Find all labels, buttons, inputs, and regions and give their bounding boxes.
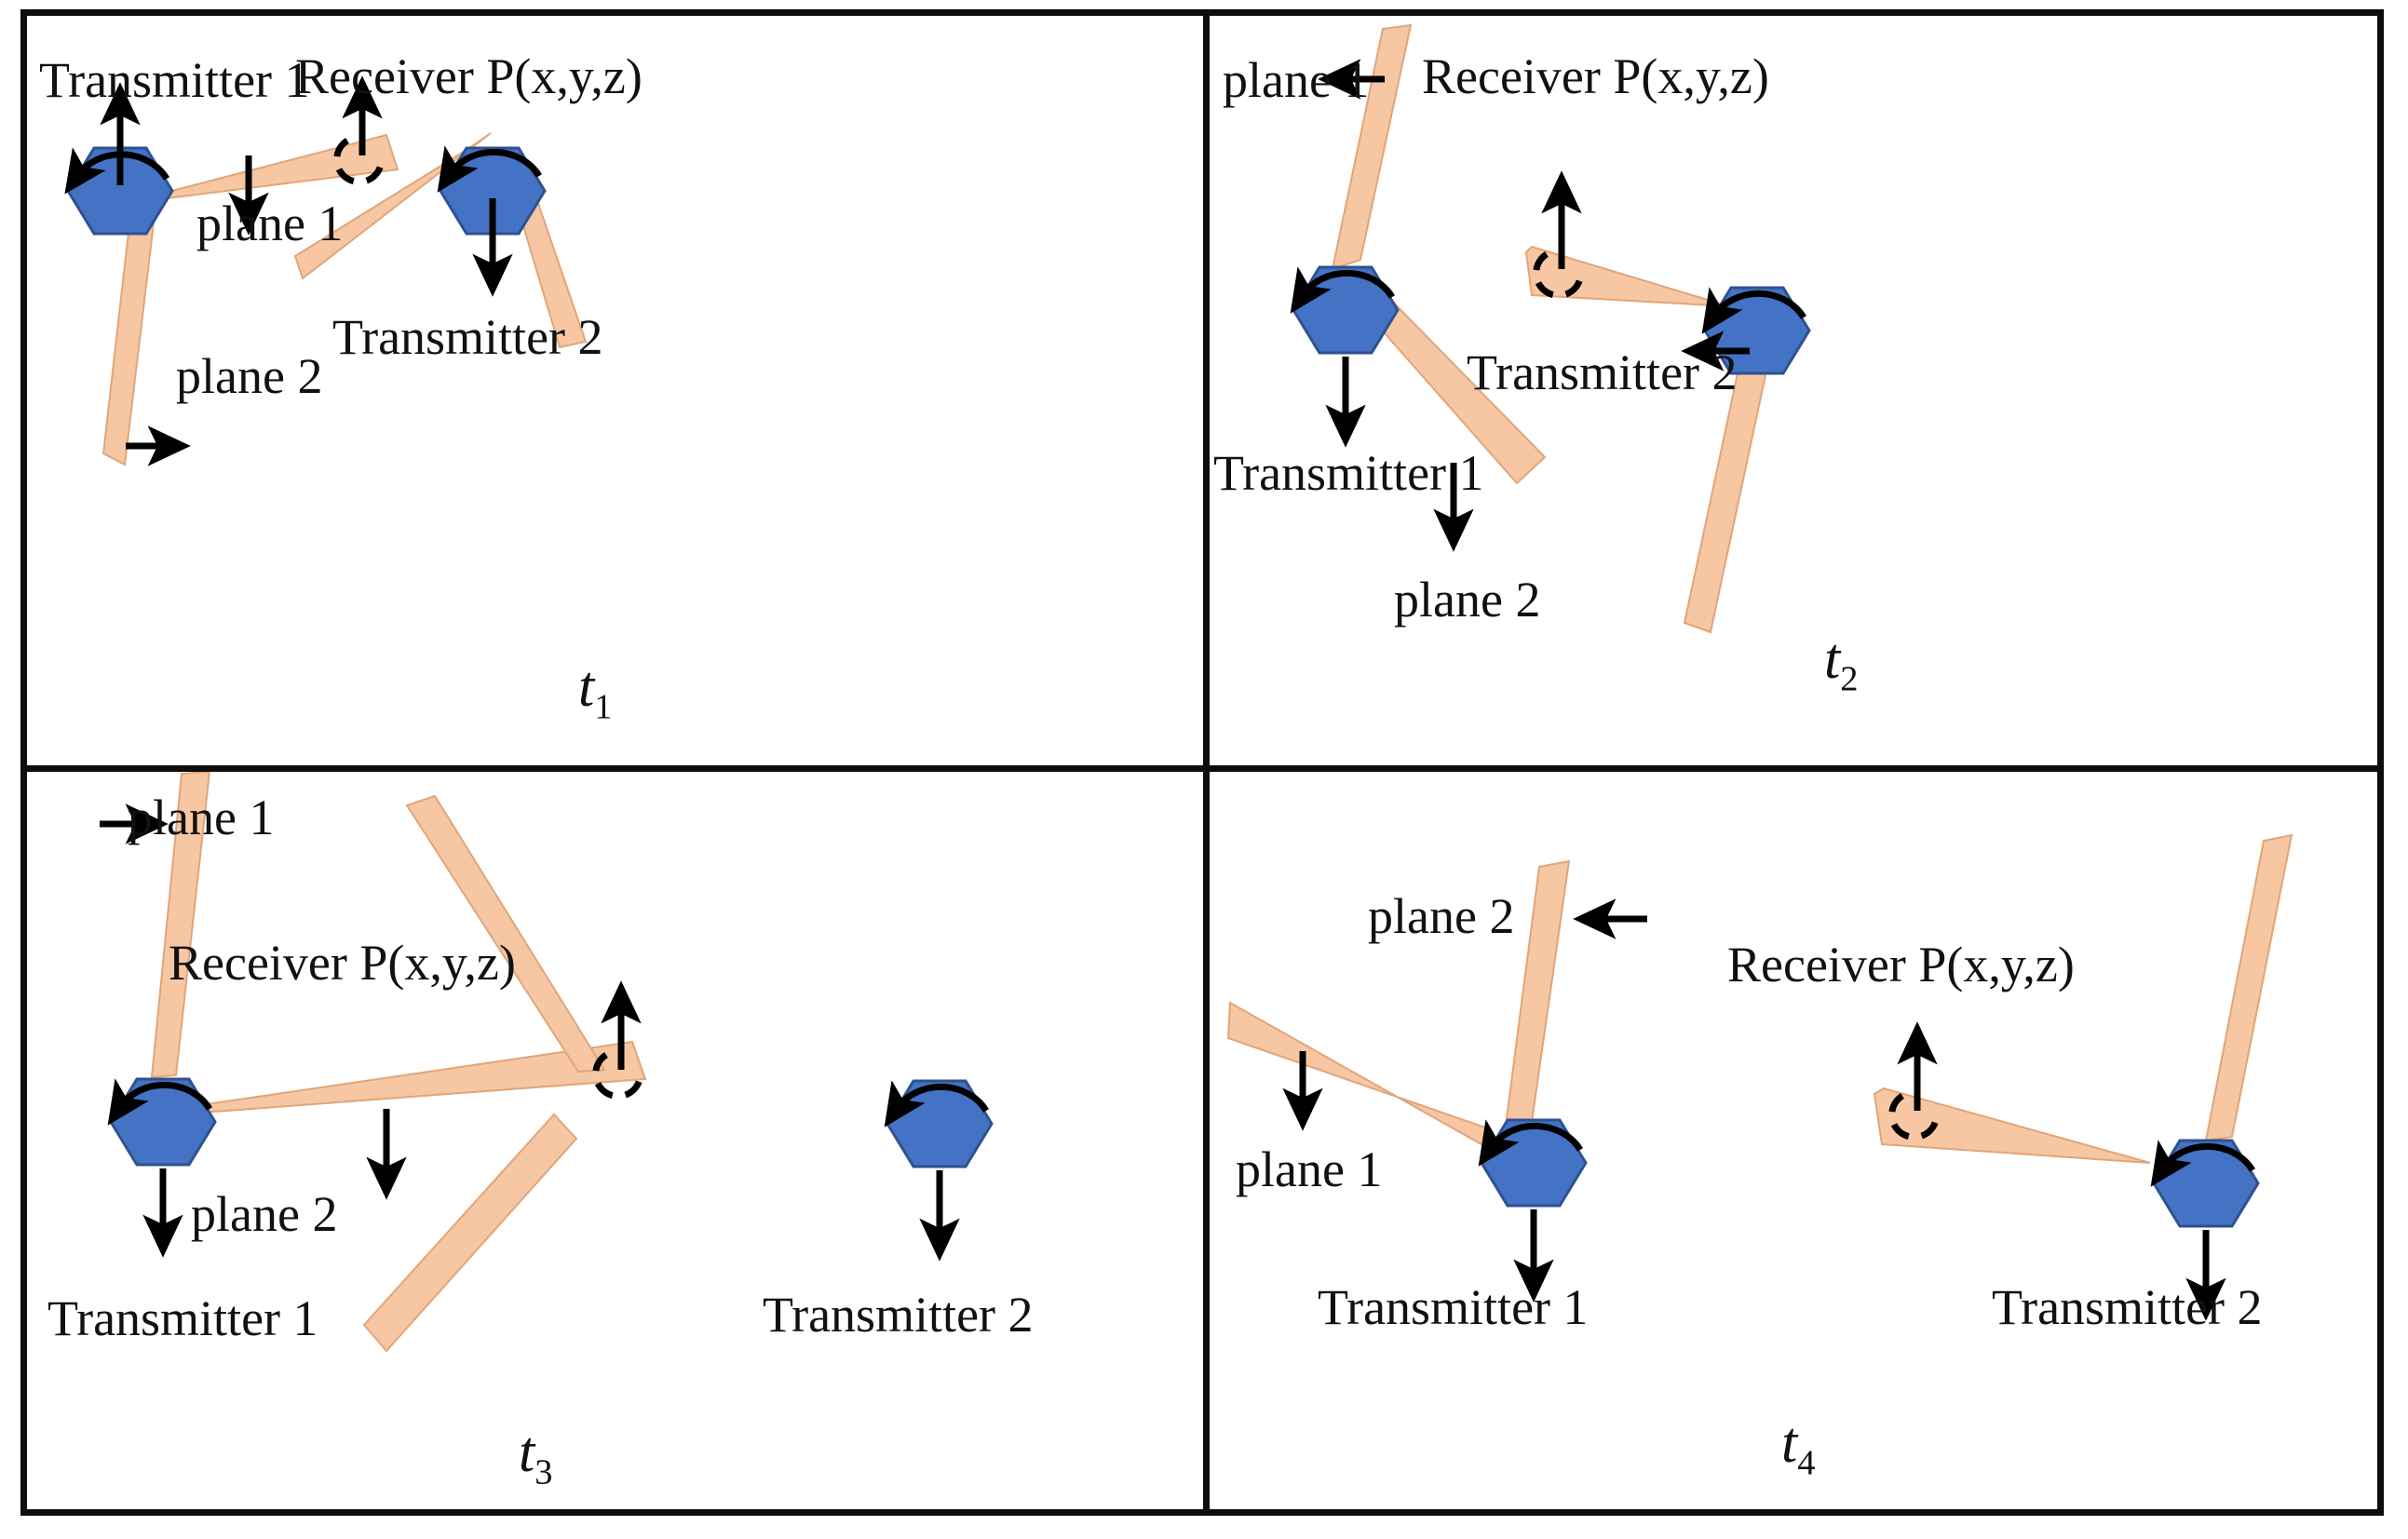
receiver-label: Receiver P(x,y,z): [1422, 51, 1769, 101]
plane-wedge-icon: [1506, 861, 1569, 1126]
plane-1-label: plane 1: [128, 792, 274, 843]
receiver-label: Receiver P(x,y,z): [1727, 939, 2075, 990]
plane-2-label: plane 2: [191, 1189, 337, 1239]
plane-wedge-icon: [407, 796, 604, 1072]
plane-1-label: plane 1: [1223, 55, 1369, 105]
time-step-label: t2: [1824, 630, 1858, 697]
plane-wedge-icon: [1526, 247, 1729, 306]
transmitter-2-group: [2154, 1141, 2258, 1299]
transmitter-2-label: Transmitter 2: [1467, 347, 1738, 398]
plane-wedge-icon: [1684, 360, 1768, 632]
receiver-label: Receiver P(x,y,z): [169, 938, 516, 988]
transmitter-2-label: Transmitter 2: [332, 312, 603, 362]
plane-1-label: plane 1: [196, 198, 343, 249]
transmitter-2-label: Transmitter 2: [1992, 1282, 2263, 1332]
time-step-label: t3: [519, 1424, 552, 1491]
plane-wedge-icon: [1228, 1003, 1495, 1152]
transmitter-hexagon-icon: [1293, 267, 1398, 353]
plane-2-label: plane 2: [1368, 891, 1514, 941]
transmitter-1-label: Transmitter 1: [1318, 1282, 1589, 1332]
transmitter-hexagon-icon: [111, 1079, 215, 1165]
transmitter-1-label: Transmitter 1: [39, 55, 310, 105]
transmitter-1-label: Transmitter 1: [1213, 448, 1484, 498]
transmitter-2-label: Transmitter 2: [763, 1289, 1034, 1340]
plane-2-label: plane 2: [176, 351, 322, 401]
panel-vertical-divider: [1203, 9, 1210, 1516]
transmitter-1-group: [1481, 1120, 1586, 1280]
time-step-label: t4: [1781, 1414, 1815, 1481]
plane-wedge-icon: [103, 208, 156, 465]
panel-t1: Transmitter 1 Receiver P(x,y,z) plane 1 …: [27, 16, 1203, 765]
time-step-label: t1: [578, 658, 612, 725]
panel-t2: plane 1 Receiver P(x,y,z) Transmitter 1 …: [1210, 16, 2384, 765]
panel-t4: plane 2 Receiver P(x,y,z) plane 1 Transm…: [1210, 772, 2384, 1516]
transmitter-hexagon-icon: [2154, 1141, 2258, 1226]
panel-t3: plane 1 Receiver P(x,y,z) plane 2 Transm…: [27, 772, 1203, 1516]
transmitter-2-group: [887, 1081, 992, 1239]
transmitter-1-label: Transmitter 1: [47, 1293, 318, 1343]
plane-wedge-icon: [2206, 835, 2292, 1141]
transmitter-1-group: [1293, 267, 1398, 425]
plane-2-label: plane 2: [1394, 574, 1540, 625]
transmitter-hexagon-icon: [1481, 1120, 1586, 1206]
figure-canvas: Transmitter 1 Receiver P(x,y,z) plane 1 …: [0, 0, 2408, 1539]
receiver-label: Receiver P(x,y,z): [295, 51, 643, 101]
plane-wedge-icon: [364, 1114, 576, 1351]
plane-1-label: plane 1: [1236, 1144, 1382, 1195]
panel-horizontal-divider: [20, 765, 2384, 772]
transmitter-1-group: [68, 104, 172, 234]
transmitter-2-group: [440, 148, 545, 275]
transmitter-hexagon-icon: [887, 1081, 992, 1167]
